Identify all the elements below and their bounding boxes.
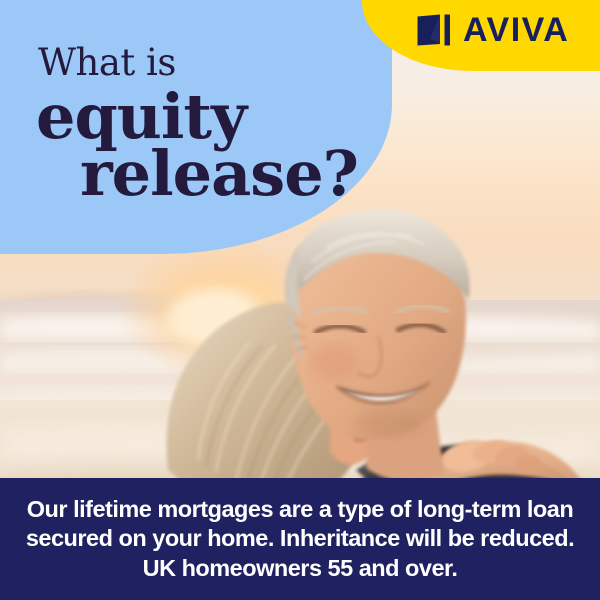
headline-line-3: release?: [80, 143, 358, 205]
disclaimer-band: Our lifetime mortgages are a type of lon…: [0, 478, 600, 600]
aviva-equity-release-ad: What is equity release? AVIVA Our lifeti…: [0, 0, 600, 600]
disclaimer-text: Our lifetime mortgages are a type of lon…: [12, 495, 588, 582]
aviva-mark-icon: [416, 13, 454, 47]
headline-line-1: What is: [38, 44, 176, 81]
aviva-wordmark: AVIVA: [463, 13, 569, 47]
aviva-logo[interactable]: AVIVA: [416, 13, 569, 47]
